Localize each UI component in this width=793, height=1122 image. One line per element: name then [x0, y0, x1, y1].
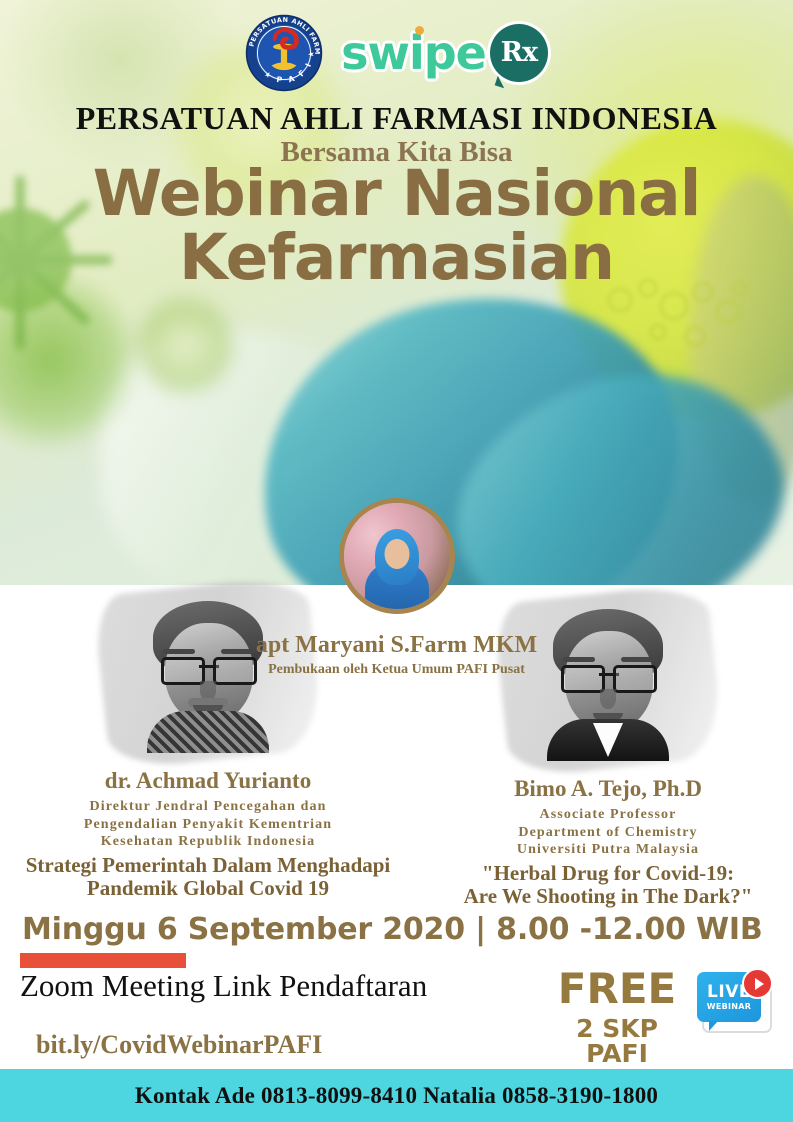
event-datetime: Minggu 6 September 2020 | 8.00 -12.00 WI…	[22, 912, 763, 947]
webinar-label: WEBINAR	[707, 1003, 752, 1011]
affiliation-line: Kesehatan Republik Indonesia	[8, 833, 408, 851]
registration-link[interactable]: bit.ly/CovidWebinarPAFI	[36, 1030, 322, 1060]
contact-text: Kontak Ade 0813-8099-8410 Natalia 0858-3…	[135, 1083, 658, 1109]
price-block: FREE 2 SKP PAFI	[552, 968, 682, 1066]
topic-line: Strategi Pemerintah Dalam Menghadapi	[8, 854, 408, 878]
accent-underline-bar	[20, 953, 186, 968]
page-title: Webinar Nasional Kefarmasian	[0, 162, 793, 291]
pafi-logo-icon: PERSATUAN AHLI FARMASI INDONESIA ★ P A F…	[245, 14, 323, 92]
swiperx-dot-icon	[415, 26, 424, 35]
center-speaker-role: Pembukaan oleh Ketua Umum PAFI Pusat	[0, 662, 793, 678]
speaker-topic-right: "Herbal Drug for Covid-19: Are We Shooti…	[428, 862, 788, 909]
speaker-affiliation-left: Direktur Jendral Pencegahan dan Pengenda…	[8, 798, 408, 851]
footer-contact-bar: Kontak Ade 0813-8099-8410 Natalia 0858-3…	[0, 1069, 793, 1122]
rx-label: Rx	[501, 39, 538, 66]
avatar	[339, 498, 455, 614]
affiliation-line: Associate Professor	[428, 806, 788, 824]
speaker-name-right: Bimo A. Tejo, Ph.D	[428, 776, 788, 802]
webinar-poster: PERSATUAN AHLI FARMASI INDONESIA ★ P A F…	[0, 0, 793, 1122]
speaker-topic-left: Strategi Pemerintah Dalam Menghadapi Pan…	[8, 854, 408, 901]
play-button-icon	[742, 968, 773, 999]
center-speaker-block: apt Maryani S.Farm MKM Pembukaan oleh Ke…	[0, 498, 793, 678]
topic-line: "Herbal Drug for Covid-19:	[428, 862, 788, 886]
registration-label: Zoom Meeting Link Pendaftaran	[20, 968, 427, 1004]
affiliation-line: Direktur Jendral Pencegahan dan	[8, 798, 408, 816]
organization-name: PERSATUAN AHLI FARMASI INDONESIA	[0, 100, 793, 137]
logo-row: PERSATUAN AHLI FARMASI INDONESIA ★ P A F…	[0, 10, 793, 95]
topic-line: Pandemik Global Covid 19	[8, 877, 408, 901]
rx-speech-bubble-icon: Rx	[490, 24, 548, 82]
topic-line: Are We Shooting in The Dark?"	[428, 885, 788, 909]
affiliation-line: Pengendalian Penyakit Kementrian	[8, 816, 408, 834]
title-line-2: Kefarmasian	[0, 226, 793, 290]
affiliation-line: Universiti Putra Malaysia	[428, 841, 788, 859]
price-label: FREE	[552, 968, 682, 1010]
live-webinar-badge: LIVE WEBINAR	[697, 972, 773, 1038]
speaker-affiliation-right: Associate Professor Department of Chemis…	[428, 806, 788, 859]
credits-label: 2 SKP PAFI	[552, 1016, 682, 1066]
center-speaker-name: apt Maryani S.Farm MKM	[0, 632, 793, 659]
swiperx-logo: swipe Rx	[341, 24, 548, 82]
affiliation-line: Department of Chemistry	[428, 824, 788, 842]
speaker-name-left: dr. Achmad Yurianto	[8, 768, 408, 794]
swiperx-wordmark: swipe	[341, 26, 486, 80]
title-line-1: Webinar Nasional	[0, 162, 793, 226]
